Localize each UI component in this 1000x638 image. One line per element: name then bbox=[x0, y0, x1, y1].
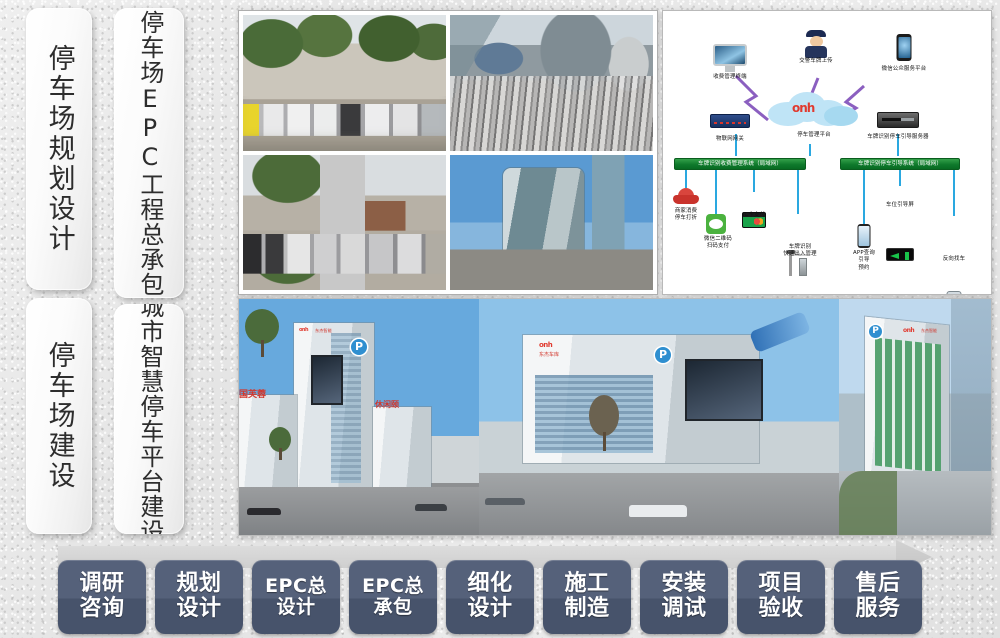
render-brand-logo: onh bbox=[299, 327, 308, 333]
render-brand-logo: onh bbox=[539, 341, 552, 349]
process-step-construction-manufacturing[interactable]: 施工 制造 bbox=[543, 560, 631, 634]
render-lifted-car bbox=[749, 311, 811, 353]
render-ground bbox=[479, 473, 839, 535]
render-tree bbox=[589, 395, 619, 453]
render-mechanical-garage: onh 东杰车库 P bbox=[479, 299, 839, 535]
render-strip: onh 东杰智能 P 国芙蓉 休闲颐 onh 东杰车库 P bbox=[239, 299, 991, 535]
render-car bbox=[247, 508, 281, 515]
system-architecture-diagram: 收费管理终端 交警车牌上传 微信公众服务平台 onh 停车管理平台 物联网网关 … bbox=[668, 16, 986, 289]
render-parking-sign: P bbox=[869, 325, 882, 338]
photo-collage bbox=[243, 15, 653, 290]
app-phone-icon bbox=[858, 224, 871, 248]
leaf-label-reverse-car-finding: 反向找车 bbox=[930, 256, 978, 263]
process-step-after-sales-service[interactable]: 售后 服务 bbox=[834, 560, 922, 634]
sidebar-card-smart-city-parking-platform[interactable]: 城市智慧停车平台建设 bbox=[114, 304, 184, 534]
leaf-label-ic-card-pay: IC卡支付 bbox=[730, 212, 778, 219]
system-architecture-panel: 收费管理终端 交警车牌上传 微信公众服务平台 onh 停车管理平台 物联网网关 … bbox=[662, 10, 992, 295]
render-billboard bbox=[311, 355, 343, 405]
sidebar-card-parking-planning-design[interactable]: 停车场规划设计 bbox=[26, 8, 92, 290]
render-brand-logo: onh bbox=[903, 327, 914, 334]
render-shop-sign-2: 休闲颐 bbox=[375, 399, 399, 410]
red-car-icon bbox=[673, 188, 699, 205]
sidebar-card-parking-construction[interactable]: 停车场建设 bbox=[26, 298, 92, 534]
photo-street-parking bbox=[243, 15, 446, 151]
leaf-label-app-query: APP查询 引导 预约 bbox=[838, 250, 890, 272]
render-brand-cn: 东杰车库 bbox=[539, 351, 559, 358]
photo-glass-tower bbox=[450, 155, 653, 291]
sidebar-card-label: 停车场规划设计 bbox=[43, 44, 74, 254]
render-led-billboard bbox=[685, 359, 763, 421]
photo-aerial-parking bbox=[450, 15, 653, 151]
kiosk-icon bbox=[947, 291, 962, 295]
render-street-parking-tower: onh 东杰智能 P 国芙蓉 休闲颐 bbox=[239, 299, 479, 535]
photo-lot-brick-building bbox=[243, 155, 446, 291]
guidance-screen-icon bbox=[886, 248, 914, 261]
leaf-label-lpr-quick-access: 车牌识别 快速出入管理 bbox=[768, 244, 832, 259]
render-car bbox=[415, 504, 447, 511]
leaf-label-wechat-qr-pay: 微信二维码 扫码支付 bbox=[688, 236, 748, 251]
render-tree bbox=[269, 427, 291, 463]
sidebar-card-label: 城市智慧停车平台建设 bbox=[135, 304, 163, 534]
sidebar-card-label: 停车场EPC工程总承包 bbox=[135, 10, 163, 297]
photo-collage-panel bbox=[238, 10, 658, 295]
sidebar-card-parking-epc-general-contracting[interactable]: 停车场EPC工程总承包 bbox=[114, 8, 184, 298]
render-aerial-glass bbox=[875, 338, 941, 473]
process-step-epc-general-contracting[interactable]: EPC总 承包 bbox=[349, 560, 437, 634]
wechat-icon bbox=[706, 214, 726, 234]
leaf-label-space-guidance-screen: 车位引导屏 bbox=[871, 202, 929, 209]
render-tree bbox=[245, 309, 279, 359]
sidebar-card-label: 停车场建设 bbox=[43, 341, 74, 491]
process-step-planning-design[interactable]: 规划 设计 bbox=[155, 560, 243, 634]
render-car bbox=[629, 505, 687, 517]
process-step-row: 调研 咨询 规划 设计 EPC总 设计 EPC总 承包 细化 设计 施工 制造 … bbox=[58, 560, 958, 634]
render-brand-cn: 东杰智能 bbox=[921, 328, 937, 334]
process-step-research-consulting[interactable]: 调研 咨询 bbox=[58, 560, 146, 634]
render-parking-sign: P bbox=[655, 347, 671, 363]
render-greenery bbox=[839, 471, 897, 535]
render-right-shop-building bbox=[373, 407, 431, 491]
process-step-installation-commissioning[interactable]: 安装 调试 bbox=[640, 560, 728, 634]
render-aerial-tower-garage: onh 东杰智能 P bbox=[839, 299, 991, 535]
render-brand-cn: 东杰智能 bbox=[315, 328, 332, 334]
render-car bbox=[485, 498, 525, 505]
render-shop-sign-1: 国芙蓉 bbox=[239, 387, 266, 400]
process-step-detailed-design[interactable]: 细化 设计 bbox=[446, 560, 534, 634]
architectural-render-panel: onh 东杰智能 P 国芙蓉 休闲颐 onh 东杰车库 P bbox=[238, 298, 992, 536]
process-step-epc-overall-design[interactable]: EPC总 设计 bbox=[252, 560, 340, 634]
process-step-project-acceptance[interactable]: 项目 验收 bbox=[737, 560, 825, 634]
render-parking-sign: P bbox=[351, 339, 367, 355]
